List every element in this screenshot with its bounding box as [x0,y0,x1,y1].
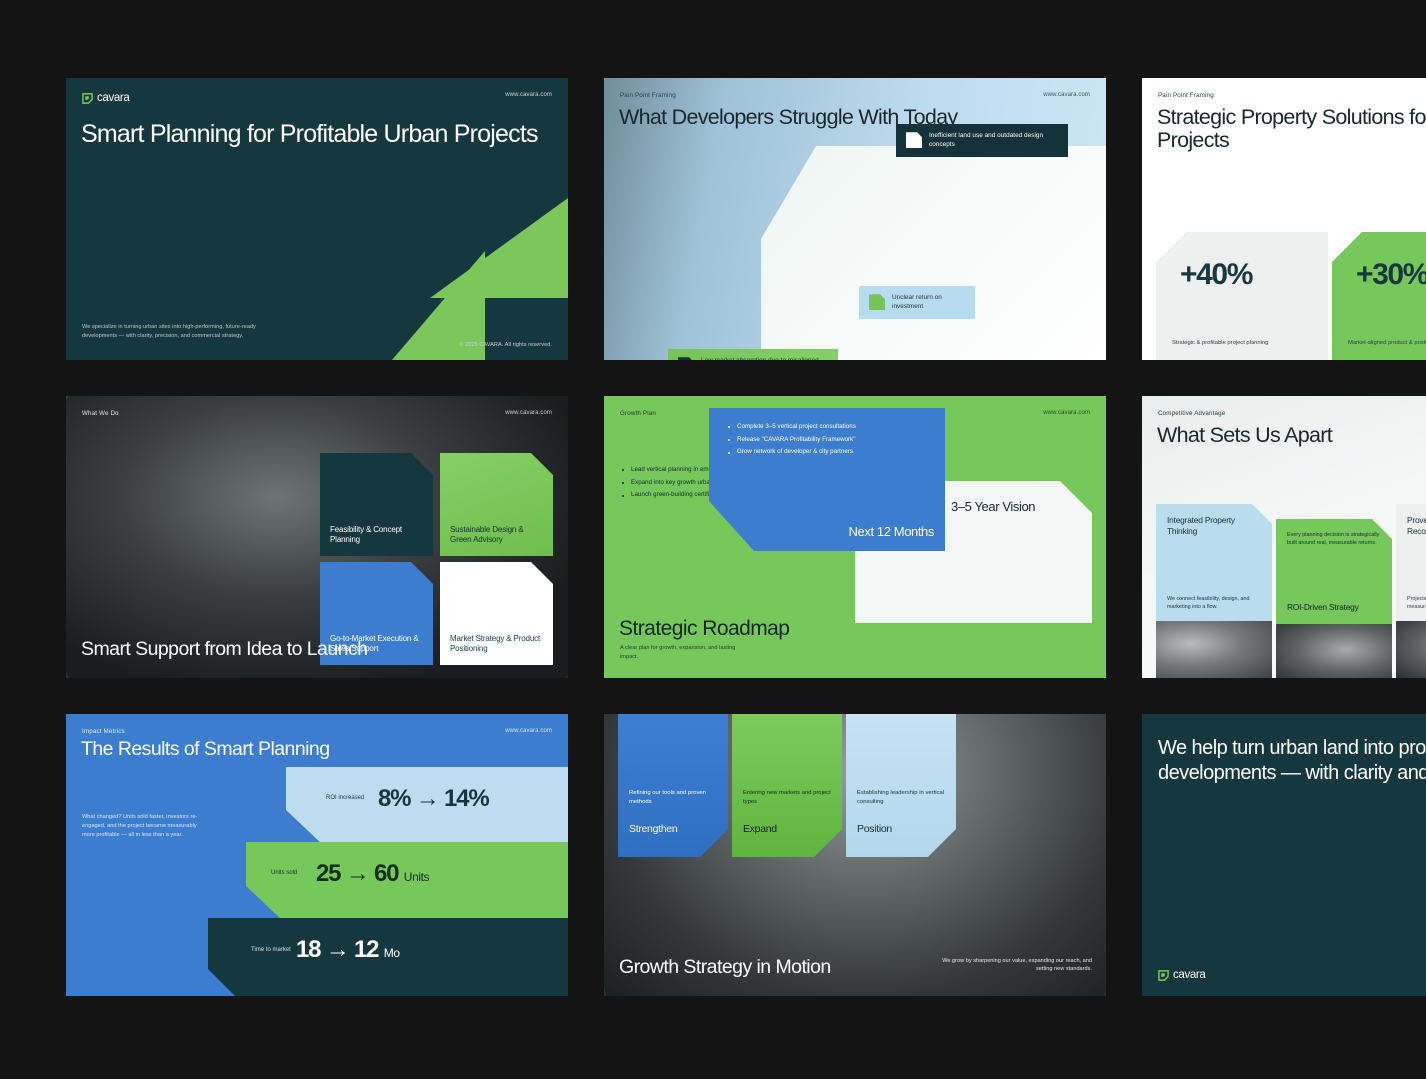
metric-row: ROI increased 8% → 14% [286,767,568,844]
metric-unit: Mo [384,946,400,960]
slide-eyebrow: Growth Plan [620,410,656,417]
long-term-title: 3–5 Year Vision [951,499,1035,514]
page-title: Growth Strategy in Motion [619,957,831,978]
advantage-title: Proven Delivery Track Record [1407,515,1426,537]
growth-pill-title: Strengthen [629,823,677,835]
advantage-desc: Every planning decision is strategically… [1287,531,1387,547]
page-subtitle: We specialize in turning urban sites int… [82,323,262,341]
advantage-card: ROI-Driven Strategy Every planning decis… [1276,519,1392,624]
slide-eyebrow: Pain Point Framing [1158,92,1214,99]
growth-pill-title: Position [857,823,892,835]
metric-row: Units sold 25 → 60 Units [246,842,568,920]
slide-url: www.cavara.com [505,92,552,98]
slide-eyebrow: Competitive Advantage [1158,410,1225,417]
advantage-desc: We connect feasibility, design, and mark… [1167,595,1267,611]
list-item: Complete 3–5 vertical project consultati… [728,424,928,430]
service-card[interactable]: Market Strategy & Product Positioning [440,562,553,665]
metric-label: Time to market [251,946,291,955]
metric-value: 18 → 12 Mo [296,936,400,964]
growth-pill-desc: Refining our tools and proven methods [629,789,721,807]
chip-label: Low market absorption due to misaligned … [701,356,828,360]
slide-advantage[interactable]: Competitive Advantage What Sets Us Apart… [1142,396,1426,678]
copyright-text: © 2025 CAVARA. All rights reserved. [459,342,552,348]
chamfer-square-icon [869,294,885,310]
metric-label: Units sold [271,869,297,878]
background-wedge [761,146,1106,360]
service-card[interactable]: Feasibility & Concept Planning [320,453,433,556]
growth-pill-title: Expand [743,823,777,835]
growth-pill[interactable]: Entering new markets and project types E… [732,714,842,857]
page-title: Smart Support from Idea to Launch [81,639,367,660]
service-card-label: Market Strategy & Product Positioning [450,634,543,655]
page-subtitle: A clear plan for growth, expansion, and … [620,644,750,662]
slide-closing[interactable]: We help turn urban land into profitable,… [1142,714,1426,996]
slide-footer-note: We grow by sharpening our value, expandi… [940,957,1092,974]
stat-caption: Market-aligned product & positioning [1348,339,1426,348]
page-title: Strategic Property Solutions for Profita… [1157,106,1426,152]
advantage-card: Integrated Property Thinking We connect … [1156,504,1272,621]
advantage-card: Proven Delivery Track Record Projects la… [1396,504,1426,621]
slide-url: www.cavara.com [505,410,552,416]
slide-title[interactable]: cavara www.cavara.com Smart Planning for… [66,78,568,360]
metric-value: 25 → 60 Units [316,860,429,888]
slide-url: www.cavara.com [1043,92,1090,98]
chip-label: Inefficient land use and outdated design… [929,131,1058,150]
advantage-photo [1396,621,1426,678]
metric-value: 8% → 14% [378,785,488,813]
advantage-column[interactable]: Proven Delivery Track Record Projects la… [1396,504,1426,678]
brand-wordmark: cavara [97,92,129,104]
slide-services[interactable]: What We Do www.cavara.com Smart Support … [66,396,568,678]
chamfer-square-icon [678,357,694,360]
page-title: Strategic Roadmap [619,618,789,640]
chamfer-square-icon [906,132,922,148]
near-term-title: Next 12 Months [849,524,934,539]
slide-eyebrow: Pain Point Framing [620,92,676,99]
page-title: Smart Planning for Profitable Urban Proj… [81,121,538,148]
stat-caption: Strategic & profitable project planning [1172,339,1268,348]
advantage-photo-desk [1156,621,1272,678]
advantage-desc: Projects launched on time with measurabl… [1407,595,1426,611]
near-term-list: Complete 3–5 vertical project consultati… [728,424,928,462]
slide-url: www.cavara.com [505,728,552,734]
stat-value: +40% [1180,258,1252,292]
slide-results[interactable]: Impact Metrics www.cavara.com The Result… [66,714,568,996]
advantage-column[interactable]: ROI-Driven Strategy Every planning decis… [1276,519,1392,678]
advantage-photo-laptop [1276,624,1392,678]
service-card-label: Feasibility & Concept Planning [330,525,423,546]
metric-label: ROI increased [326,794,364,803]
brand-logo: cavara [1158,969,1205,981]
pain-point-chip[interactable]: Low market absorption due to misaligned … [668,349,838,360]
slide-stats[interactable]: Pain Point Framing Strategic Property So… [1142,78,1426,360]
growth-pill-desc: Entering new markets and project types [743,789,835,807]
cavara-logo-icon [82,93,93,104]
slide-growth[interactable]: Refining our tools and proven methods St… [604,714,1106,996]
stat-card: +30% Market-aligned product & positionin… [1332,232,1426,360]
metric-number: 18 → 12 [296,936,378,963]
stat-card: +40% Strategic & profitable project plan… [1156,232,1328,360]
slide-pain-points[interactable]: Pain Point Framing www.cavara.com What D… [604,78,1106,360]
metric-number: 25 → 60 [316,860,398,887]
list-item: Grow network of developer & city partner… [728,449,928,455]
page-title: The Results of Smart Planning [81,739,330,760]
pain-point-chip[interactable]: Inefficient land use and outdated design… [896,124,1068,157]
chip-label: Unclear return on investment [892,293,965,312]
slide-eyebrow: What We Do [82,410,119,417]
metric-unit: Units [404,870,429,884]
growth-pill[interactable]: Refining our tools and proven methods St… [618,714,728,857]
brand-wordmark: cavara [1173,969,1205,981]
service-card-grid: Feasibility & Concept Planning Sustainab… [320,453,558,665]
pain-point-chip[interactable]: Unclear return on investment [859,286,975,319]
slide-url: www.cavara.com [1043,410,1090,416]
growth-pill[interactable]: Establishing leadership in vertical cons… [846,714,956,857]
advantage-title: ROI-Driven Strategy [1287,602,1359,613]
stat-value: +30% [1356,258,1426,292]
advantage-column[interactable]: Integrated Property Thinking We connect … [1156,504,1272,678]
growth-pill-row: Refining our tools and proven methods St… [618,714,956,857]
cavara-logo-icon [1158,970,1169,981]
growth-pill-desc: Establishing leadership in vertical cons… [857,789,949,807]
service-card[interactable]: Sustainable Design & Green Advisory [440,453,553,556]
slide-eyebrow: Impact Metrics [82,728,125,735]
page-title: What Sets Us Apart [1157,424,1332,447]
slide-roadmap[interactable]: Growth Plan www.cavara.com 3–5 Year Visi… [604,396,1106,678]
service-card-label: Sustainable Design & Green Advisory [450,525,543,546]
advantage-title: Integrated Property Thinking [1167,515,1261,537]
list-item: Release "CAVARA Profitability Framework" [728,437,928,443]
slide-deck: cavara www.cavara.com Smart Planning for… [66,78,1426,996]
page-subtitle: What changed? Units sold faster, investo… [82,813,202,840]
metric-row: Time to market 18 → 12 Mo [208,918,568,996]
near-term-panel: Next 12 Months Complete 3–5 vertical pro… [709,408,945,551]
brand-logo: cavara [82,92,129,104]
closing-statement: We help turn urban land into profitable,… [1158,736,1426,786]
accent-triangle-top [430,198,568,298]
